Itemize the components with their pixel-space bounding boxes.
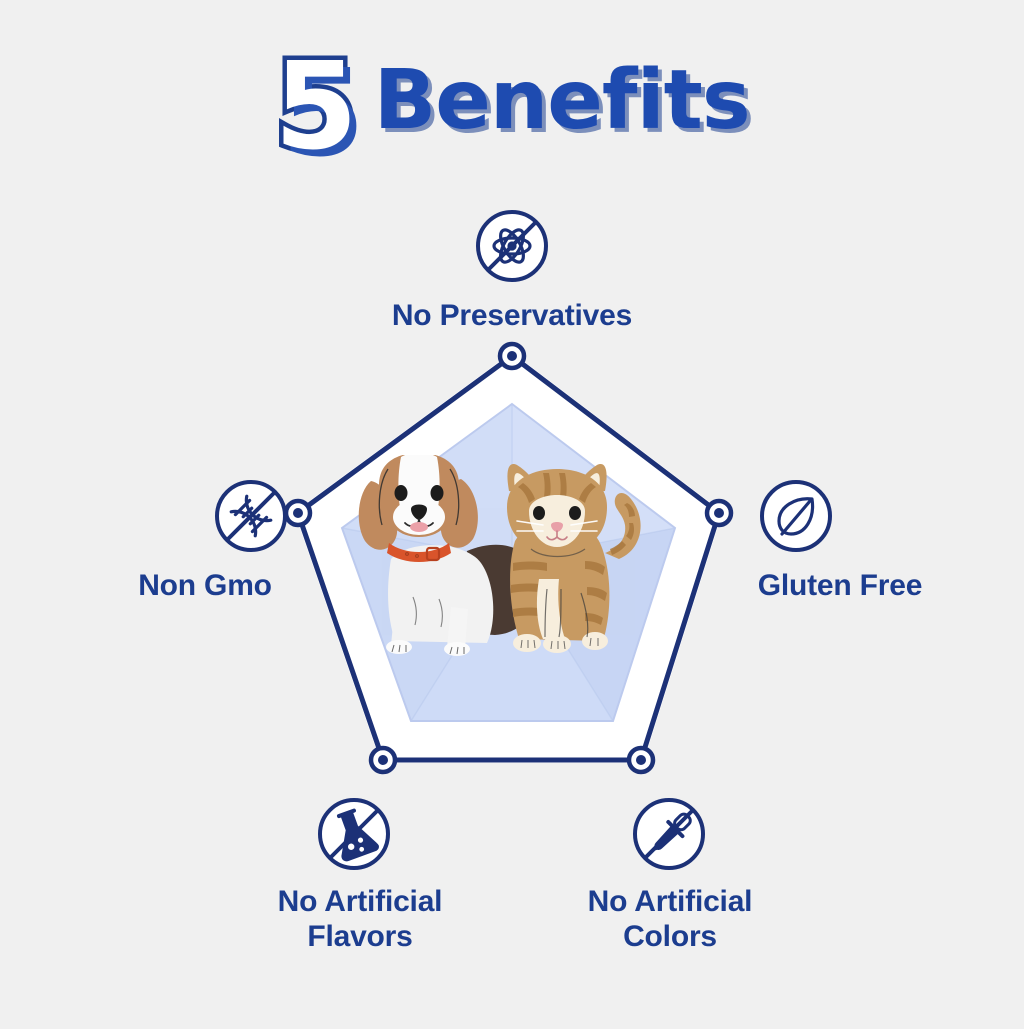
infographic-canvas: 5Benefits [0,0,1024,1024]
benefit-label-gluten-free: Gluten Free [690,568,990,603]
title-word: Benefits [374,53,750,148]
vertex-marker-top [500,344,524,368]
vertex-marker-bottom-left [371,748,395,772]
title-number: 5 [274,48,358,168]
benefit-label-no-artificial-flavors: No Artificial Flavors [230,884,490,955]
dog-and-cat-illustration [355,455,675,685]
vertex-marker-bottom-right [629,748,653,772]
benefit-label-no-artificial-colors: No Artificial Colors [540,884,800,955]
tabby-cat [507,464,641,653]
page-title: 5Benefits [0,48,1024,168]
benefit-label-no-preservatives: No Preservatives [312,298,712,333]
no-preservatives-badge[interactable] [473,207,551,285]
vertex-marker-right [707,501,731,525]
non-gmo-badge[interactable] [212,477,290,555]
benefit-label-non-gmo: Non Gmo [60,568,350,603]
gluten-free-badge[interactable] [757,477,835,555]
no-artificial-flavors-badge[interactable] [315,795,393,873]
no-artificial-colors-badge[interactable] [630,795,708,873]
